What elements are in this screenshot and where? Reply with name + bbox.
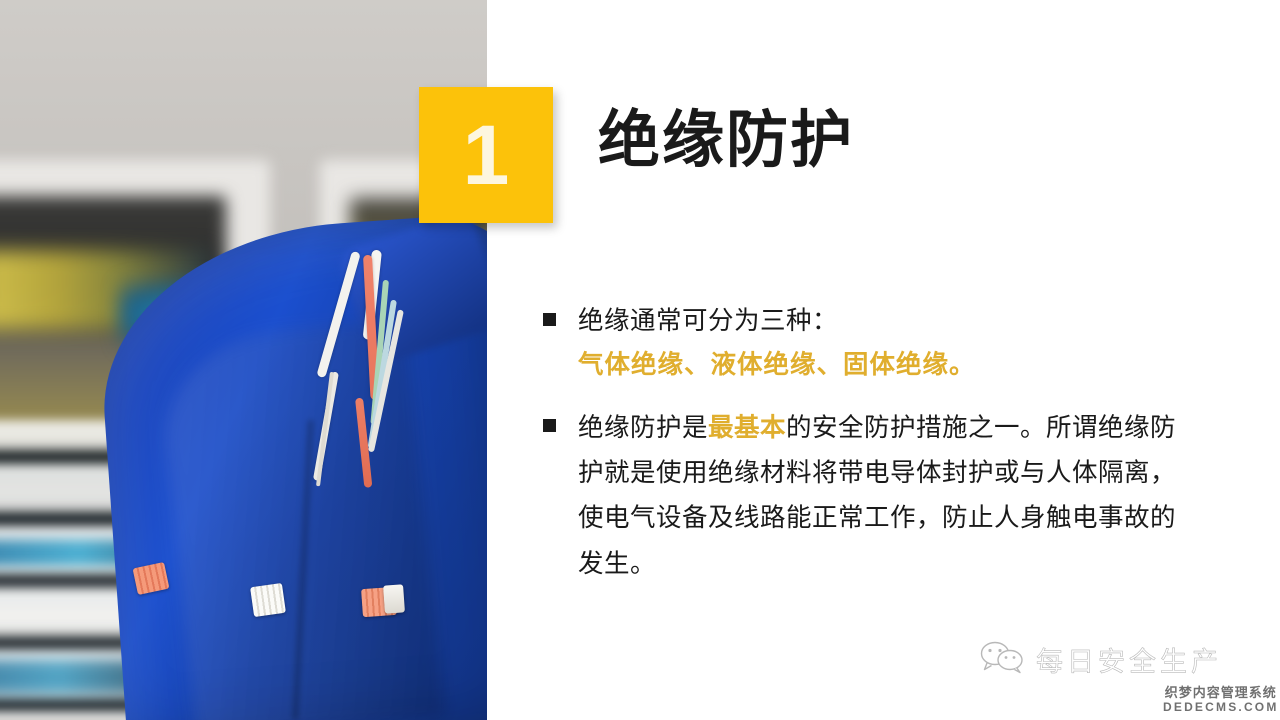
dedecms-watermark-cn: 织梦内容管理系统 <box>1163 686 1279 700</box>
photo-connector-white-1 <box>250 583 286 617</box>
watermark: 每日安全生产 <box>980 640 1222 679</box>
bullet-square-icon <box>543 313 556 326</box>
bullet-square-icon <box>543 419 556 432</box>
dedecms-watermark: 织梦内容管理系统 DEDECMS.COM <box>1163 686 1279 715</box>
watermark-account-name: 每日安全生产 <box>1036 640 1222 679</box>
slide-body: 绝缘通常可分为三种： 气体绝缘、液体绝缘、固体绝缘。 绝缘防护是最基本的安全防护… <box>543 300 1183 605</box>
bullet-item-2: 绝缘防护是最基本的安全防护措施之一。所谓绝缘防护就是使用绝缘材料将带电导体封护或… <box>543 406 1183 588</box>
section-number: 1 <box>463 113 510 197</box>
bullet-1-content: 绝缘通常可分为三种： 气体绝缘、液体绝缘、固体绝缘。 <box>543 300 1183 388</box>
bullet-item-1: 绝缘通常可分为三种： 气体绝缘、液体绝缘、固体绝缘。 <box>543 300 1183 388</box>
wechat-icon <box>980 641 1026 679</box>
page-title: 绝缘防护 <box>598 108 854 173</box>
section-number-badge: 1 <box>419 87 553 223</box>
slide-photo <box>0 0 487 720</box>
bullet-1-line-1: 绝缘通常可分为三种： <box>578 307 838 335</box>
dedecms-watermark-en: DEDECMS.COM <box>1163 700 1279 714</box>
photo-connector-white-2 <box>383 584 405 613</box>
bullet-2-content: 绝缘防护是最基本的安全防护措施之一。所谓绝缘防护就是使用绝缘材料将带电导体封护或… <box>543 406 1183 588</box>
presentation-slide: 1 绝缘防护 绝缘通常可分为三种： 气体绝缘、液体绝缘、固体绝缘。 绝缘防护是最… <box>0 0 1280 720</box>
bullet-2-text-before: 绝缘防护是 <box>578 414 708 442</box>
bullet-1-line-2: 气体绝缘、液体绝缘、固体绝缘。 <box>578 344 1183 388</box>
bullet-2-highlight: 最基本 <box>708 414 786 442</box>
